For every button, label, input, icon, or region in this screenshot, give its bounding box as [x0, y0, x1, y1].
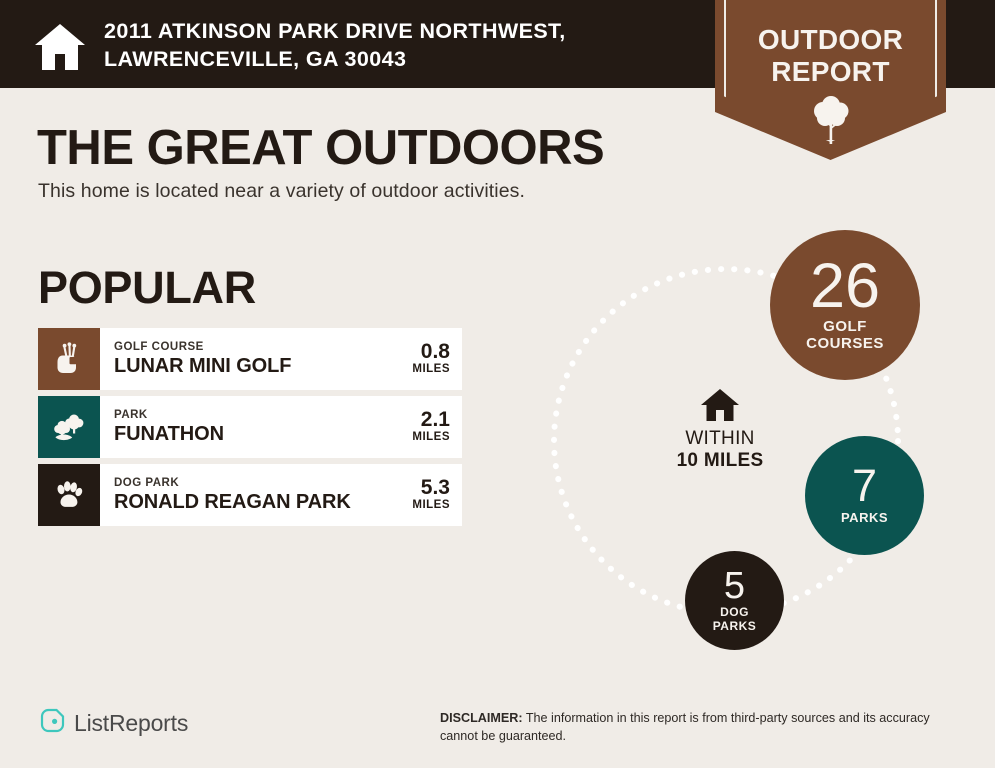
disclaimer: DISCLAIMER: The information in this repo…: [440, 710, 930, 746]
stat-value: 7: [852, 465, 877, 508]
listreports-logo[interactable]: ListReports: [40, 708, 188, 738]
home-icon: [646, 388, 794, 422]
within-line-2: 10 MILES: [646, 450, 794, 472]
badge-title: OUTDOOR REPORT: [715, 24, 946, 88]
tree-icon: [812, 96, 850, 144]
disclaimer-label: DISCLAIMER:: [440, 711, 523, 725]
listreports-logo-icon: [40, 708, 65, 738]
stat-label: DOG PARKS: [713, 606, 757, 633]
stat-label: GOLF COURSES: [806, 319, 884, 353]
stat-circle-dog-parks: 5 DOG PARKS: [685, 551, 784, 650]
stat-value: 26: [810, 257, 880, 317]
within-radius-label: WITHIN 10 MILES: [646, 388, 794, 473]
stat-circle-parks: 7 PARKS: [805, 436, 924, 555]
stat-value: 5: [724, 568, 745, 604]
listreports-logo-text: ListReports: [74, 710, 188, 737]
stat-circle-golf-courses: 26 GOLF COURSES: [770, 230, 920, 380]
within-line-1: WITHIN: [646, 428, 794, 450]
stat-label: PARKS: [841, 511, 888, 526]
